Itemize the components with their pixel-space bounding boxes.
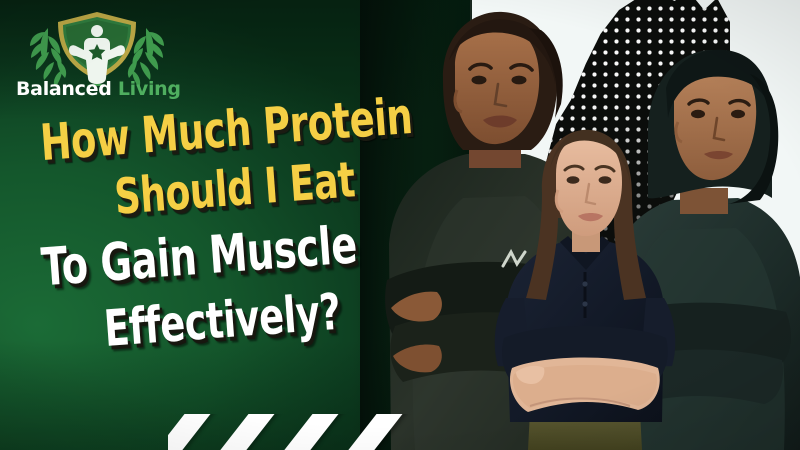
title-block: How Much Protein Should I Eat To Gain Mu…	[0, 85, 430, 395]
title-line-4: Effectively?	[102, 287, 342, 354]
diagonal-stripes	[168, 414, 430, 450]
bodybuilder-shield-laurel-icon	[12, 6, 182, 86]
stripe	[280, 414, 347, 450]
title-line-2: Should I Eat	[113, 155, 357, 221]
brand-logo[interactable]: Balanced Living	[12, 6, 182, 106]
title-line-3: To Gain Muscle	[40, 219, 359, 294]
stripe	[168, 414, 218, 450]
brand-word-1: Balanced	[16, 78, 112, 100]
brand-wordmark: Balanced Living	[16, 78, 181, 100]
people-group	[400, 0, 800, 450]
thumbnail-canvas: How Much Protein Should I Eat To Gain Mu…	[0, 0, 800, 450]
stripe	[344, 414, 411, 450]
stripe	[216, 414, 283, 450]
brand-word-2: Living	[118, 78, 181, 100]
person-woman-center	[490, 122, 680, 450]
